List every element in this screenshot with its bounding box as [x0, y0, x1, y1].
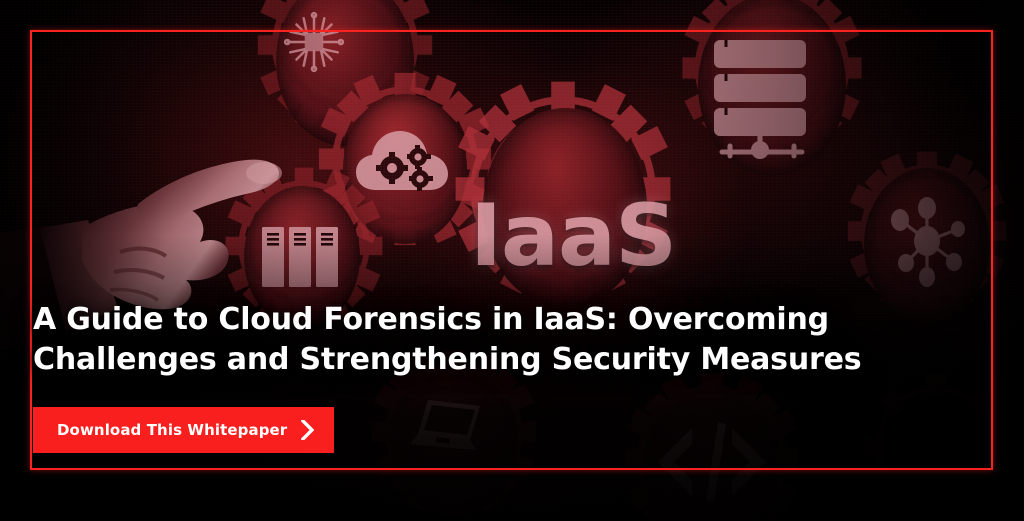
server-rack-icon	[706, 36, 822, 160]
iaas-graphic-text: IaaS	[470, 186, 670, 286]
download-whitepaper-button[interactable]: Download This Whitepaper	[33, 407, 334, 453]
network-nodes-icon	[872, 186, 982, 296]
download-whitepaper-label: Download This Whitepaper	[57, 421, 287, 439]
page-title: A Guide to Cloud Forensics in IaaS: Over…	[33, 300, 913, 380]
banner-content: A Guide to Cloud Forensics in IaaS: Over…	[33, 300, 913, 453]
chevron-right-icon	[301, 420, 314, 440]
whitepaper-banner: IaaS	[0, 0, 1024, 521]
